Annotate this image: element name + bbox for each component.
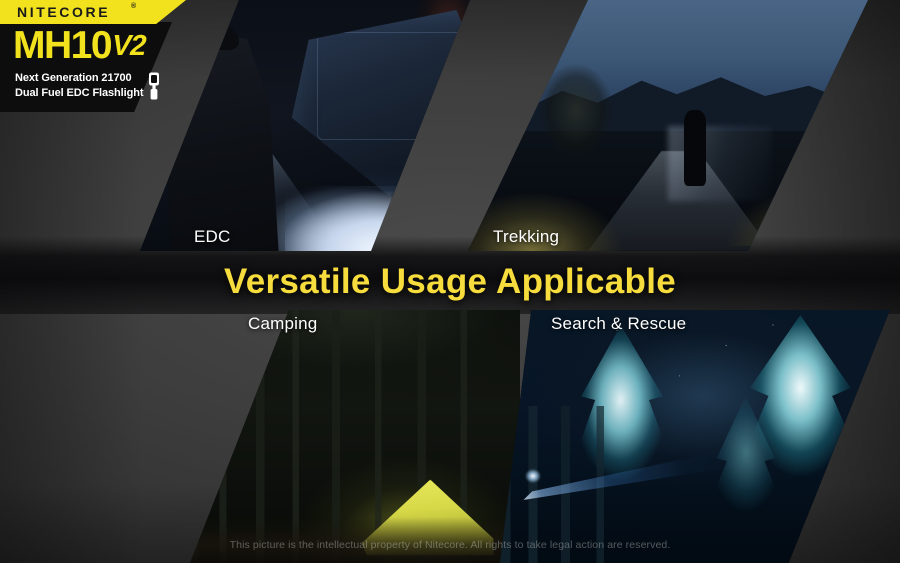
brand-block: NITECORE ® MH10V2 Next Generation 21700 … (0, 0, 184, 112)
copyright-watermark: This picture is the intellectual propert… (0, 539, 900, 551)
caption-search-rescue: Search & Rescue (551, 314, 686, 334)
tagline-line-2: Dual Fuel EDC Flashlight (15, 86, 143, 101)
model-main-text: MH10 (13, 24, 111, 67)
page-title: Versatile Usage Applicable (0, 262, 900, 302)
tagline-line-1: Next Generation 21700 (15, 71, 143, 86)
brand-logo-text: NITECORE (17, 4, 110, 20)
trekking-hiker-silhouette (684, 110, 706, 185)
caption-trekking: Trekking (493, 227, 559, 247)
product-marketing-banner: EDC Trekking Camping Search & Rescue Ver… (0, 0, 900, 563)
caption-camping: Camping (248, 314, 317, 334)
caption-edc: EDC (194, 227, 231, 247)
product-model-name: MH10V2 (13, 26, 146, 65)
product-tagline: Next Generation 21700 Dual Fuel EDC Flas… (15, 71, 143, 101)
registered-trademark-mark: ® (131, 3, 136, 10)
model-variant-text: V2 (109, 32, 149, 61)
usb-connector-icon (146, 72, 162, 100)
rescue-flashlight-source (523, 467, 543, 485)
